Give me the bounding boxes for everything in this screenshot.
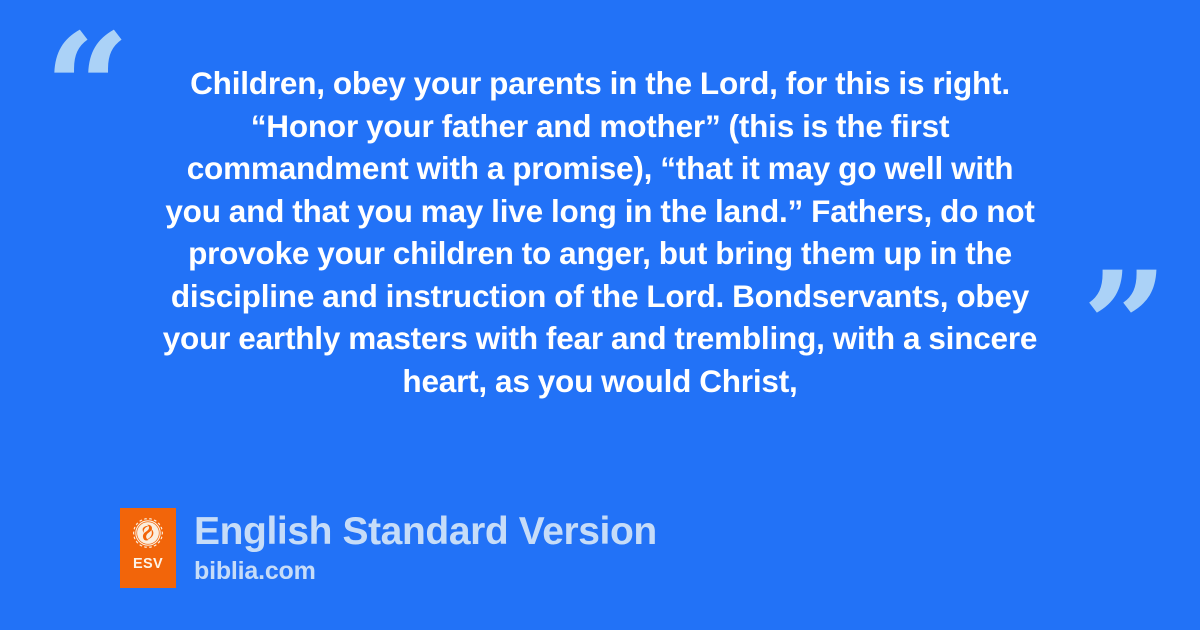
attribution-footer: ESV English Standard Version biblia.com (120, 508, 657, 588)
attribution-text-group: English Standard Version biblia.com (194, 508, 657, 586)
verse-text: Children, obey your parents in the Lord,… (112, 62, 1088, 402)
closing-quote-icon: ” (1082, 252, 1166, 402)
verse-quote-card: “ Children, obey your parents in the Lor… (0, 0, 1200, 630)
verse-block: Children, obey your parents in the Lord,… (112, 62, 1088, 402)
bible-version-name: English Standard Version (194, 509, 657, 554)
esv-logo: ESV (120, 508, 176, 588)
site-url-label: biblia.com (194, 556, 657, 586)
esv-seal-icon (132, 517, 164, 549)
esv-abbreviation-label: ESV (133, 557, 163, 572)
